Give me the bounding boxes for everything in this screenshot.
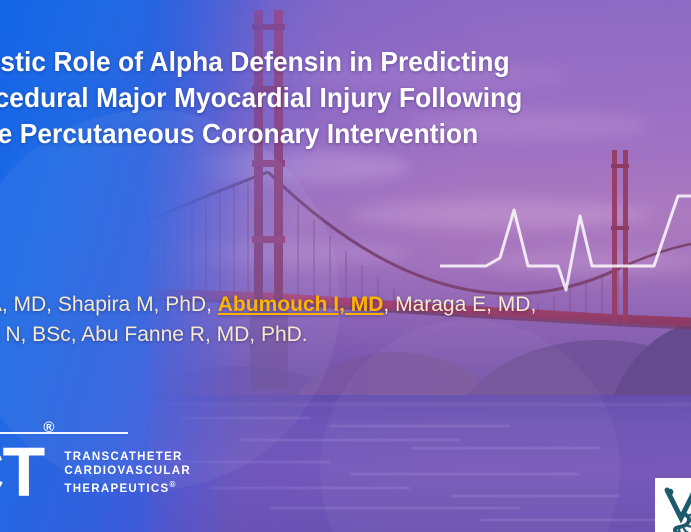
presenting-author-highlight: Abumouch I, MD [218,293,384,316]
tct-subtitle-registered-mark: ® [169,480,176,489]
tct-registered-mark: ® [43,419,54,436]
tct-logo: RF® CT® TRANSCATHETER CARDIOVASCULAR THE… [0,396,191,502]
tct-subtitle-line-1: TRANSCATHETER [64,450,191,464]
author-line-2: alem N, BSc, Abu Fanne R, MD, PhD. [0,320,691,350]
title-line-1: gnostic Role of Alpha Defensin in Predic… [0,44,678,80]
presentation-title-slide: gnostic Role of Alpha Defensin in Predic… [0,0,691,532]
logo-divider [0,432,128,434]
tct-subtitle-line-3: THERAPEUTICS® [64,478,191,496]
caduceus-emblem-icon [661,484,691,532]
page-title: gnostic Role of Alpha Defensin in Predic… [0,44,691,152]
author-line-1-post: , Maraga E, MD, [383,293,536,316]
tct-subtitle-text-3: THERAPEUTICS [64,483,169,495]
author-line-1-pre: zi AA, MD, Shapira M, PhD, [0,293,218,316]
title-line-3: ctive Percutaneous Coronary Intervention [0,116,678,152]
tct-text: CT [0,432,43,510]
author-list: zi AA, MD, Shapira M, PhD, Abumouch I, M… [0,290,691,350]
tct-subtitle: TRANSCATHETER CARDIOVASCULAR THERAPEUTIC… [64,450,191,496]
crf-wordmark: RF® [0,396,191,426]
tct-wordmark: CT® [0,436,54,502]
author-line-1: zi AA, MD, Shapira M, PhD, Abumouch I, M… [0,290,691,320]
institution-emblem [655,478,691,532]
tct-subtitle-line-2: CARDIOVASCULAR [64,464,191,478]
title-line-2: procedural Major Myocardial Injury Follo… [0,80,678,116]
